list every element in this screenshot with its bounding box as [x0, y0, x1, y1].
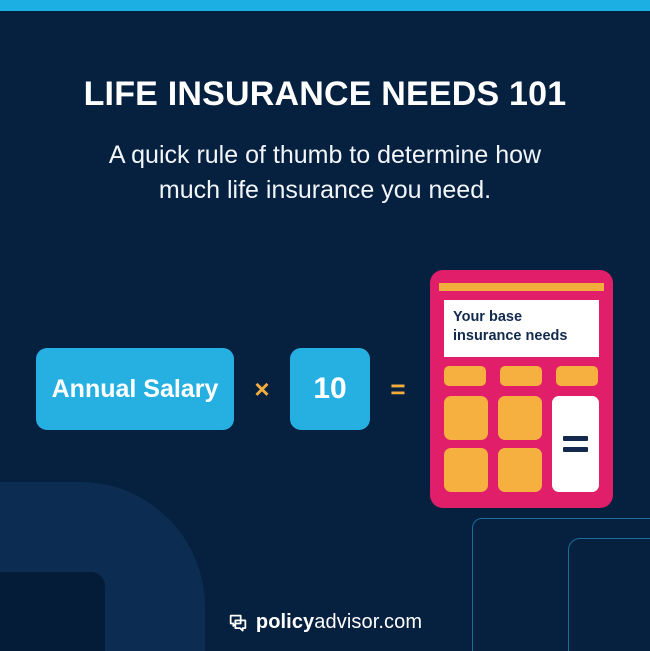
annual-salary-pill: Annual Salary — [36, 348, 234, 430]
formula-row: Annual Salary × 10 = — [36, 348, 426, 430]
equals-operator-icon: = — [370, 374, 426, 405]
brand-wordmark: policyadvisor.com — [256, 611, 422, 634]
brand-name-bold: policy — [256, 611, 314, 633]
brand-name-light: advisor.com — [314, 611, 422, 633]
calculator-top-stripe — [439, 283, 604, 291]
page-title: LIFE INSURANCE NEEDS 101 — [0, 76, 650, 113]
multiplier-pill: 10 — [290, 348, 370, 430]
calculator-equals-key — [552, 396, 599, 492]
calculator-key — [498, 448, 542, 492]
calculator-key — [444, 396, 488, 440]
calculator-key — [498, 396, 542, 440]
equals-sign-icon — [563, 436, 588, 452]
page-subtitle: A quick rule of thumb to determine how m… — [75, 138, 575, 207]
calculator-key — [500, 366, 542, 386]
calculator-keypad — [444, 366, 599, 494]
overlapping-speech-bubbles-icon — [228, 613, 248, 633]
multiply-operator-icon: × — [234, 374, 290, 405]
infographic-canvas: LIFE INSURANCE NEEDS 101 A quick rule of… — [0, 0, 650, 651]
top-accent-bar — [0, 0, 650, 11]
calculator-key — [444, 448, 488, 492]
brand-footer: policyadvisor.com — [0, 611, 650, 634]
calculator-display: Your base insurance needs — [444, 300, 599, 357]
content-layer: LIFE INSURANCE NEEDS 101 A quick rule of… — [0, 0, 650, 651]
calculator-key — [444, 366, 486, 386]
calculator-key — [556, 366, 598, 386]
calculator-illustration: Your base insurance needs — [430, 270, 613, 508]
